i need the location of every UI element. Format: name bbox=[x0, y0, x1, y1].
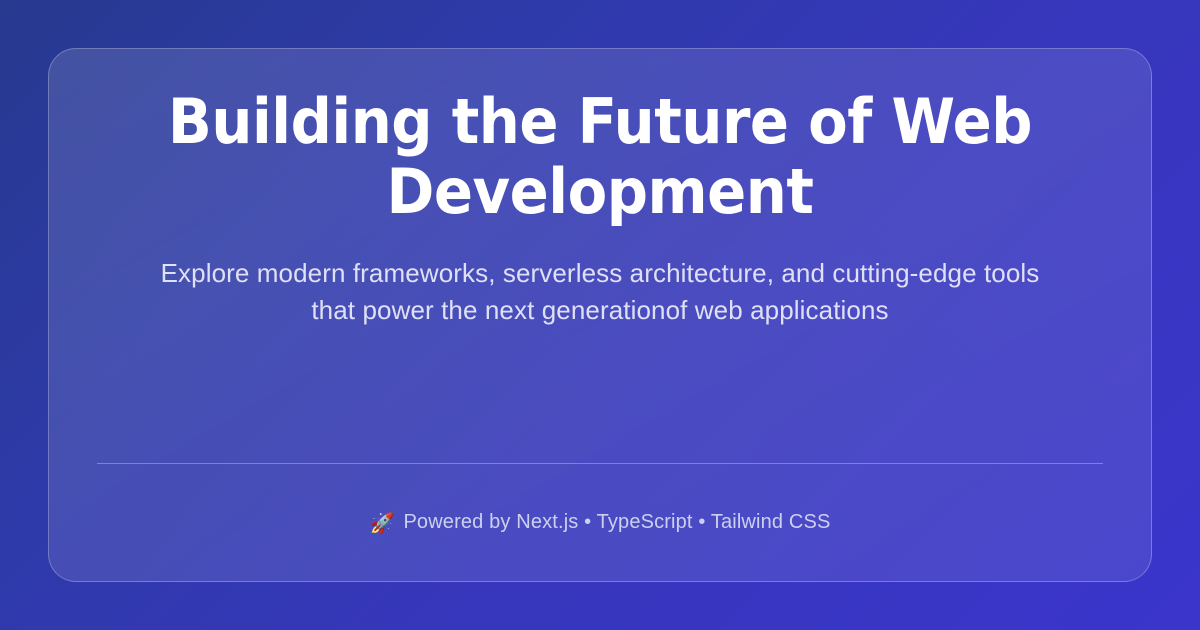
footer-tech-stack-label: Powered by Next.js • TypeScript • Tailwi… bbox=[403, 511, 830, 534]
og-image-card: Building the Future of Web Development E… bbox=[48, 48, 1152, 582]
page-title: Building the Future of Web Development bbox=[143, 87, 1056, 227]
rocket-emoji: 🚀 bbox=[370, 513, 395, 533]
page-subtitle: Explore modern frameworks, serverless ar… bbox=[137, 255, 1063, 329]
subtitle-container: Explore modern frameworks, serverless ar… bbox=[49, 255, 1151, 329]
footer: 🚀 Powered by Next.js • TypeScript • Tail… bbox=[370, 464, 831, 581]
title-container: Building the Future of Web Development bbox=[49, 87, 1151, 227]
